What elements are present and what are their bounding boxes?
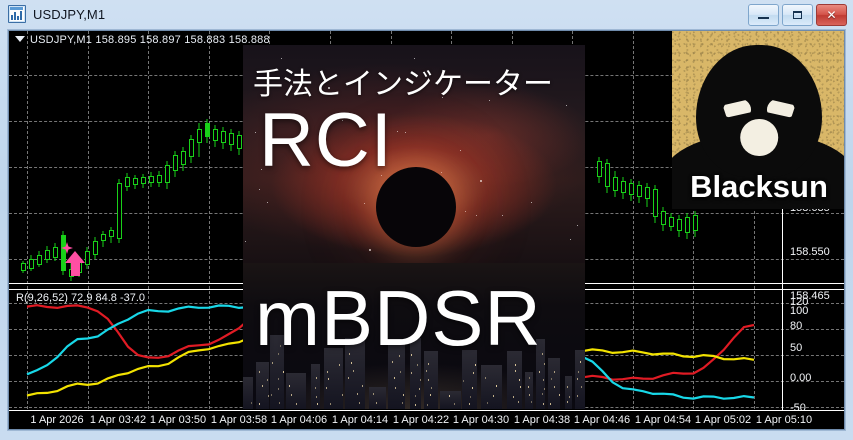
minimize-button[interactable] (748, 4, 779, 26)
city-light (539, 371, 540, 373)
indicator-label: R(9,26,52) 72.9 84.8 -37.0 (16, 292, 145, 304)
candlestick (693, 211, 698, 237)
city-light (470, 396, 471, 398)
candlestick (621, 177, 626, 199)
star-dot (369, 249, 371, 251)
city-light (251, 402, 252, 404)
city-light (493, 395, 494, 397)
title-bar: USDJPY,M1 (0, 0, 853, 28)
city-light (485, 377, 486, 379)
city-light (529, 394, 530, 396)
candlestick (189, 135, 194, 163)
indicator-scale-label: 100 (790, 305, 808, 317)
time-axis-label: 1 Apr 05:02 (695, 414, 751, 426)
city-light (426, 370, 427, 372)
city-light (330, 403, 331, 405)
city-light (328, 378, 329, 380)
city-light (419, 388, 420, 390)
maximize-button[interactable] (782, 4, 813, 26)
city-light (428, 379, 429, 381)
city-light (569, 396, 570, 398)
indicator-scale-label: 50 (790, 342, 802, 354)
city-light (395, 387, 396, 389)
overlay-title-bottom: mBDSR (255, 273, 542, 364)
close-icon: ✕ (826, 9, 836, 21)
candlestick (685, 213, 690, 239)
city-light (577, 378, 578, 380)
city-light (430, 394, 431, 396)
city-light (567, 386, 568, 388)
time-axis[interactable]: 1 Apr 20261 Apr 03:421 Apr 03:501 Apr 03… (9, 410, 844, 429)
city-light (357, 393, 358, 395)
logo-eye-left-icon (723, 98, 752, 118)
candlestick (237, 131, 242, 155)
building-silhouette (565, 376, 572, 409)
star-dot (267, 202, 268, 203)
candlestick (101, 231, 106, 247)
chart-window-icon (8, 5, 26, 23)
candlestick (661, 207, 666, 231)
chart-client-area[interactable]: USDJPY,M1 158.895 158.897 158.883 158.88… (8, 30, 845, 430)
star-dot (259, 189, 260, 190)
city-light (268, 395, 269, 397)
buy-signal-arrow (65, 249, 85, 277)
city-light (431, 387, 432, 389)
city-light (473, 372, 474, 374)
time-axis-label: 1 Apr 04:06 (271, 414, 327, 426)
star-dot (405, 132, 406, 133)
city-light (550, 403, 551, 405)
star-dot (255, 132, 256, 133)
city-light (415, 395, 416, 397)
time-axis-label: 1 Apr 03:58 (211, 414, 267, 426)
star-dot (570, 239, 571, 240)
city-light (520, 386, 521, 388)
city-light (551, 378, 552, 380)
promo-overlay-image[interactable]: 手法とインジケーター RCI mBDSR (243, 45, 585, 409)
time-axis-label: 1 Apr 04:30 (453, 414, 509, 426)
symbol-quote-text: USDJPY,M1 158.895 158.897 158.883 158.88… (30, 34, 270, 46)
city-light (581, 386, 582, 388)
time-axis-label: 1 Apr 04:14 (332, 414, 388, 426)
city-light (567, 401, 568, 403)
city-light (518, 401, 519, 403)
city-light (348, 377, 349, 379)
city-light (417, 364, 418, 366)
city-light (327, 371, 328, 373)
candlestick (165, 161, 170, 189)
city-light (262, 385, 263, 387)
candlestick (53, 243, 58, 261)
city-light (342, 394, 343, 396)
candlestick (653, 185, 658, 223)
city-light (339, 364, 340, 366)
candlestick (229, 129, 234, 151)
indicator-scale-label: 80 (790, 320, 802, 332)
time-axis-label: 1 Apr 04:46 (574, 414, 630, 426)
candlestick (37, 251, 42, 267)
city-light (279, 402, 280, 404)
city-light (531, 401, 532, 403)
building-silhouette (369, 387, 386, 409)
city-light (542, 393, 543, 395)
candlestick (205, 119, 210, 143)
city-light (315, 387, 316, 389)
candlestick (173, 151, 178, 177)
time-axis-label: 1 Apr 04:22 (393, 414, 449, 426)
candlestick (141, 174, 146, 188)
time-axis-label: 1 Apr 03:50 (150, 414, 206, 426)
city-light (487, 402, 488, 404)
candlestick (221, 127, 226, 149)
window-title: USDJPY,M1 (33, 7, 105, 22)
indicator-scale-label: 0.00 (790, 372, 811, 384)
time-axis-label: 1 Apr 03:42 (90, 414, 146, 426)
candlestick (125, 173, 130, 191)
candlestick (637, 181, 642, 203)
city-light (449, 395, 450, 397)
logo-brand-text: Blacksun (672, 169, 845, 205)
city-light (394, 377, 395, 379)
city-light (267, 379, 268, 381)
arrow-shaft (71, 259, 80, 276)
candlestick (157, 171, 162, 187)
city-light (400, 371, 401, 373)
city-light (415, 404, 416, 406)
city-light (543, 403, 544, 405)
city-light (373, 393, 374, 395)
city-light (289, 385, 290, 387)
city-light (427, 404, 428, 406)
city-light (402, 402, 403, 404)
star-dot (502, 215, 503, 216)
building-silhouette (548, 358, 560, 409)
close-button[interactable]: ✕ (816, 4, 847, 26)
star-dot (465, 211, 466, 212)
time-axis-label: 1 Apr 04:54 (635, 414, 691, 426)
star-dot (397, 131, 398, 132)
city-light (559, 394, 560, 396)
city-light (544, 363, 545, 365)
city-light (515, 370, 516, 372)
star-dot (531, 202, 532, 203)
candlestick (117, 179, 122, 243)
star-dot (364, 203, 365, 204)
city-light (463, 380, 464, 382)
city-light (420, 379, 421, 381)
candlestick (197, 123, 202, 157)
logo-eye-right-icon (767, 98, 796, 118)
candlestick (613, 171, 618, 197)
building-silhouette (481, 365, 502, 409)
city-light (543, 379, 544, 381)
city-light (326, 387, 327, 389)
candlestick (29, 255, 34, 271)
city-light (296, 403, 297, 405)
star-dot (566, 105, 567, 106)
candlestick (45, 246, 50, 263)
city-light (529, 377, 530, 379)
candlestick (133, 175, 138, 189)
blacksun-logo[interactable]: Blacksun (672, 31, 845, 209)
star-dot (480, 180, 482, 182)
city-light (359, 402, 360, 404)
window-controls: ✕ (748, 4, 847, 26)
mt4-chart-window: USDJPY,M1 ✕ USDJPY,M1 158.895 158.897 15… (0, 0, 853, 440)
candlestick (181, 147, 186, 171)
city-light (278, 388, 279, 390)
city-light (362, 385, 363, 387)
candlestick (605, 159, 610, 193)
candlestick (645, 183, 650, 207)
city-light (278, 378, 279, 380)
city-light (580, 361, 581, 363)
city-light (259, 403, 260, 405)
candlestick (629, 179, 634, 201)
candlestick (149, 172, 154, 187)
logo-mouth-icon (740, 119, 778, 156)
candlestick (109, 227, 114, 243)
building-silhouette (243, 377, 253, 409)
city-light (513, 396, 514, 398)
city-light (544, 388, 545, 390)
city-light (577, 395, 578, 397)
city-light (454, 403, 455, 405)
city-light (316, 377, 317, 379)
logo-mask-head-icon (696, 45, 821, 177)
city-light (283, 371, 284, 373)
time-axis-label: 1 Apr 2026 (30, 414, 83, 426)
symbol-quote-line: USDJPY,M1 158.895 158.897 158.883 158.88… (15, 34, 270, 46)
star-dot (245, 241, 246, 242)
city-light (271, 394, 272, 396)
city-light (472, 387, 473, 389)
city-light (578, 371, 579, 373)
candlestick (213, 125, 218, 147)
star-dot (460, 150, 461, 151)
city-light (403, 394, 404, 396)
chevron-down-icon[interactable] (15, 36, 25, 42)
candlestick (677, 215, 682, 237)
city-light (316, 396, 317, 398)
star-dot (577, 225, 578, 226)
price-axis-label: 158.550 (790, 246, 830, 258)
star-dot (441, 172, 442, 173)
overlay-title-top: RCI (259, 97, 393, 184)
candlestick (597, 157, 602, 183)
city-light (496, 385, 497, 387)
candlestick (669, 213, 674, 231)
city-light (376, 402, 377, 404)
city-light (411, 372, 412, 374)
city-light (291, 394, 292, 396)
city-light (353, 370, 354, 372)
city-light (554, 386, 555, 388)
city-light (259, 371, 260, 373)
candlestick (21, 261, 26, 273)
city-light (554, 371, 555, 373)
star-dot (476, 215, 477, 216)
candlestick (93, 237, 98, 259)
candlestick (85, 247, 90, 269)
building-silhouette (440, 391, 461, 409)
time-axis-label: 1 Apr 04:38 (514, 414, 570, 426)
city-light (317, 403, 318, 405)
city-light (519, 379, 520, 381)
city-light (469, 403, 470, 405)
time-axis-label: 1 Apr 05:10 (756, 414, 812, 426)
city-light (528, 386, 529, 388)
